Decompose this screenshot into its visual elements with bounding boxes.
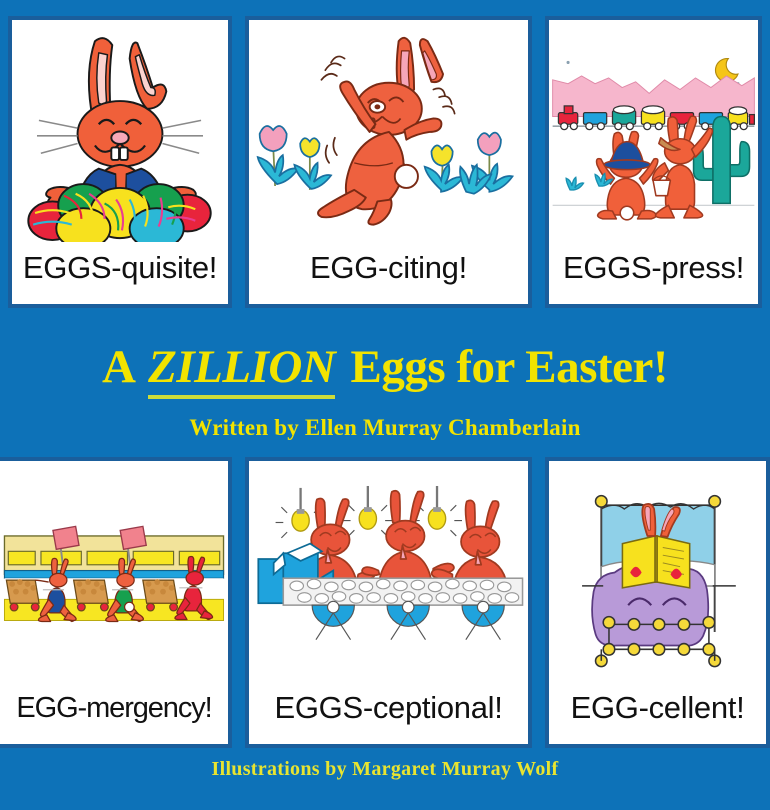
illustration-bunny-in-bed [549,461,766,682]
panel-caption: EGGS-ceptional! [249,682,528,744]
panel-caption: EGG-citing! [249,242,528,304]
panel-caption: EGGS-quisite! [12,242,228,304]
title-word-a: A [102,341,133,393]
book-cover: EGGS-quisite! [0,0,770,810]
panel-caption: EGGS-press! [549,242,758,304]
panel-eggs-quisite[interactable]: EGGS-quisite! [8,16,232,308]
panel-eggs-press[interactable]: EGGS-press! [545,16,762,308]
author-credit: Written by Ellen Murray Chamberlain [0,415,770,441]
panel-caption: EGG-mergency! [0,682,228,744]
panel-eggs-ceptional[interactable]: EGGS-ceptional! [245,457,532,748]
title-word-rest: Eggs for Easter! [350,341,667,393]
illustration-jumping-bunny [249,20,528,242]
title-word-zillion: ZILLION [148,341,335,399]
panel-row-bottom: EGG-mergency! [0,457,770,748]
panel-row-top: EGGS-quisite! [0,16,770,308]
panel-egg-mergency[interactable]: EGG-mergency! [0,457,232,748]
illustration-bunny-on-eggs [12,20,228,242]
panel-caption: EGG-cellent! [549,682,766,744]
illustration-egg-train [549,20,758,242]
title-block: A ZILLION Eggs for Easter! Written by El… [0,330,770,450]
book-title: A ZILLION Eggs for Easter! [0,330,770,396]
panel-egg-cellent[interactable]: EGG-cellent! [545,457,770,748]
illustration-grocery-carts [0,461,228,682]
panel-egg-citing[interactable]: EGG-citing! [245,16,532,308]
illustrator-credit: Illustrations by Margaret Murray Wolf [0,758,770,781]
illustration-egg-factory [249,461,528,682]
